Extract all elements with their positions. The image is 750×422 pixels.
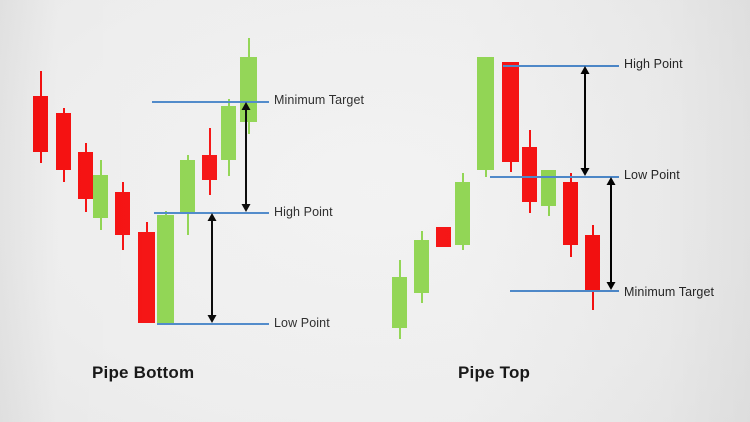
pipe-top-candle-10-body [585, 235, 600, 292]
pipe-top-candle-6-body [502, 62, 519, 162]
pipe-top-candle-1-body [392, 277, 407, 328]
pipe-top-candle-5-body [477, 57, 494, 170]
pipe-bottom-candle-9-body [202, 155, 217, 180]
pipe-top-minimum-target-line [510, 290, 619, 292]
pipe-bottom-low-to-high-arrow [206, 213, 218, 323]
pipe-top-candle-9 [563, 173, 578, 257]
pipe-bottom-candle-9 [202, 128, 217, 195]
pipe-bottom-label-high-point: High Point [274, 205, 333, 219]
pipe-bottom-low-point-line [157, 323, 269, 325]
pipe-top-candle-4 [455, 173, 470, 250]
pipe-top-candle-6 [502, 62, 519, 172]
pipe-top-candle-7 [522, 130, 537, 213]
pipe-bottom-candle-3 [78, 143, 93, 212]
pipe-top-label-low-point: Low Point [624, 168, 680, 182]
pipe-top-candle-3-body [436, 227, 451, 247]
pipe-bottom-candle-6-body [138, 232, 155, 323]
pipe-bottom-high-to-minimum-target-arrow [240, 102, 252, 212]
pipe-top-label-minimum-target: Minimum Target [624, 285, 714, 299]
pipe-top-candle-7-body [522, 147, 537, 202]
pipe-bottom-candle-10 [221, 99, 236, 176]
pipe-bottom-candle-5-body [115, 192, 130, 235]
pipe-bottom-candle-3-body [78, 152, 93, 199]
pipe-top-title: Pipe Top [458, 363, 530, 383]
pipe-top-label-high-point: High Point [624, 57, 683, 71]
pipe-bottom-candle-4 [93, 160, 108, 230]
pipe-top-candle-9-body [563, 182, 578, 245]
pipe-bottom-candle-4-body [93, 175, 108, 218]
pipe-top-low-point-line [490, 176, 619, 178]
pipe-top-low-to-minimum-target-arrow [605, 177, 617, 290]
chart-pipe-bottom [0, 0, 400, 422]
pipe-bottom-candle-8-body [180, 160, 195, 213]
pipe-top-candle-4-body [455, 182, 470, 245]
pipe-top-high-point-line [503, 65, 619, 67]
pipe-bottom-candle-2-body [56, 113, 71, 170]
pipe-bottom-candle-2 [56, 108, 71, 182]
pipe-top-high-to-low-arrow [579, 66, 591, 176]
pipe-top-candle-2 [414, 231, 429, 303]
pipe-top-candle-5 [477, 57, 494, 177]
pipe-bottom-candle-7 [157, 211, 174, 323]
pipe-bottom-candle-1 [33, 71, 48, 163]
pipe-bottom-label-low-point: Low Point [274, 316, 330, 330]
pipe-bottom-candle-7-body [157, 215, 174, 323]
pipe-top-candle-1 [392, 260, 407, 339]
pipe-bottom-candle-10-body [221, 106, 236, 160]
pipe-bottom-candle-5 [115, 182, 130, 250]
pipe-bottom-candle-1-body [33, 96, 48, 152]
pipe-pattern-diagram: Minimum TargetHigh PointLow PointPipe Bo… [0, 0, 750, 422]
pipe-bottom-title: Pipe Bottom [92, 363, 194, 383]
pipe-bottom-candle-6 [138, 222, 155, 323]
pipe-top-candle-2-body [414, 240, 429, 293]
pipe-bottom-candle-8 [180, 155, 195, 235]
pipe-top-candle-10 [585, 225, 600, 310]
pipe-top-candle-3 [436, 227, 451, 247]
pipe-bottom-label-minimum-target: Minimum Target [274, 93, 364, 107]
